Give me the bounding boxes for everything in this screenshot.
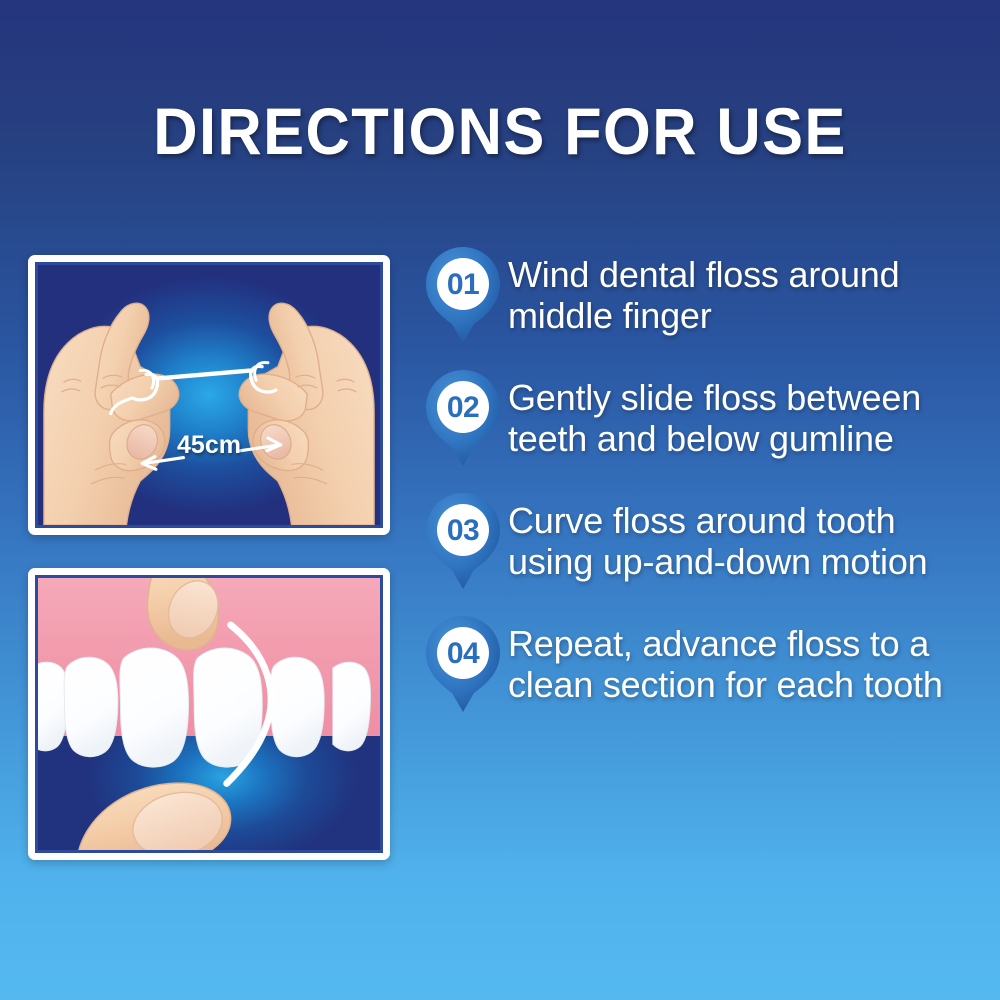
step-number-pin-icon: 02	[424, 369, 502, 469]
directions-for-use-poster: DIRECTIONS FOR USE	[0, 0, 1000, 1000]
step-text: Wind dental floss around middle finger	[508, 255, 980, 336]
step-text: Curve floss around tooth using up-and-do…	[508, 501, 980, 582]
steps-list: 01 Wind dental floss around middle finge…	[424, 246, 980, 738]
map-pin-shape-icon	[424, 615, 502, 715]
step-item-02: 02 Gently slide floss between teeth and …	[424, 369, 980, 469]
illustration-hands-holding-floss: 45cm	[28, 255, 390, 535]
step-number-pin-icon: 01	[424, 246, 502, 346]
step-text: Repeat, advance floss to a clean section…	[508, 624, 980, 705]
step-item-03: 03 Curve floss around tooth using up-and…	[424, 492, 980, 592]
map-pin-shape-icon	[424, 492, 502, 592]
illustration-floss-between-teeth	[28, 568, 390, 860]
teeth-row	[38, 648, 371, 767]
map-pin-shape-icon	[424, 369, 502, 469]
step-number-pin-icon: 03	[424, 492, 502, 592]
map-pin-shape-icon	[424, 246, 502, 346]
page-title: DIRECTIONS FOR USE	[35, 98, 965, 164]
step-item-04: 04 Repeat, advance floss to a clean sect…	[424, 615, 980, 715]
teeth-floss-illustration	[38, 578, 380, 850]
upper-finger	[133, 578, 235, 658]
panel-inner-border	[35, 575, 383, 853]
measurement-label: 45cm	[177, 431, 241, 460]
lower-finger	[77, 783, 230, 850]
right-hand	[239, 303, 374, 525]
hands-floss-illustration	[38, 265, 380, 525]
panel-inner-border: 45cm	[35, 262, 383, 528]
step-number-pin-icon: 04	[424, 615, 502, 715]
step-item-01: 01 Wind dental floss around middle finge…	[424, 246, 980, 346]
step-text: Gently slide floss between teeth and bel…	[508, 378, 980, 459]
